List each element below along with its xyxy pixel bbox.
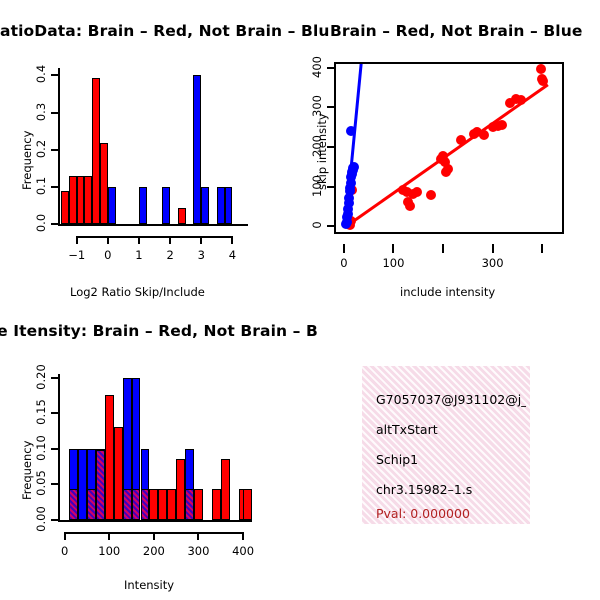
y-tick-label: 0.2	[34, 132, 48, 166]
histogram-bar	[221, 459, 230, 520]
histogram-bar	[193, 75, 201, 224]
scatter-point	[349, 162, 359, 172]
x-tick	[242, 532, 244, 540]
y-tick	[327, 186, 335, 188]
scatter-data-layer	[336, 64, 562, 232]
histogram-bar	[158, 489, 167, 520]
x-tick	[153, 532, 155, 540]
histogram-bar	[167, 489, 176, 520]
y-tick-label: 300	[310, 89, 324, 123]
scatter-point	[456, 135, 466, 145]
x-tick-label: 100	[89, 544, 129, 558]
x-tick	[138, 236, 140, 244]
x-tick	[541, 244, 543, 253]
y-tick-label: 400	[310, 50, 324, 84]
info-line-event-id: G7057037@J931102@j_	[376, 392, 526, 407]
scatter-xlabel: include intensity	[400, 285, 495, 299]
histogram-bar-overlap	[141, 489, 150, 520]
histogram-bar	[212, 489, 221, 520]
y-axis-line	[58, 68, 60, 224]
scatter-point	[479, 130, 489, 140]
y-tick-label: 0.3	[34, 95, 48, 129]
histogram-bar-overlap	[123, 489, 132, 520]
y-tick	[327, 146, 335, 148]
x-tick-label: 100	[373, 256, 413, 270]
x-tick	[64, 532, 66, 540]
histogram-bar	[78, 449, 87, 520]
x-tick	[392, 244, 394, 253]
y-tick-label: 0.00	[34, 502, 48, 536]
histogram-bar-overlap	[69, 489, 78, 520]
histogram-bar	[92, 78, 100, 224]
scatter-point	[412, 187, 422, 197]
y-tick-label: 0.20	[34, 360, 48, 394]
ratio-histogram-xlabel: Log2 Ratio Skip/Include	[70, 285, 205, 299]
x-tick	[231, 236, 233, 244]
histogram-bar-overlap	[87, 489, 96, 520]
scatter-point	[346, 126, 356, 136]
info-line-event-type: altTxStart	[376, 422, 526, 437]
x-tick-label: 4	[212, 248, 252, 262]
scatter-point	[443, 164, 453, 174]
y-axis-line	[58, 374, 60, 520]
histogram-bar	[243, 489, 252, 520]
histogram-bar	[77, 176, 85, 224]
histogram-bar	[100, 143, 108, 224]
y-tick	[327, 225, 335, 227]
y-tick	[327, 67, 335, 69]
y-tick-label: 0.05	[34, 466, 48, 500]
gene-info-box: G7057037@J931102@j_ altTxStart Schip1 ch…	[362, 366, 530, 524]
histogram-bar	[225, 187, 233, 224]
histogram-bar	[201, 187, 209, 224]
histogram-bar	[105, 395, 114, 520]
x-axis-line	[58, 224, 248, 226]
x-tick	[200, 236, 202, 244]
x-tick	[343, 244, 345, 253]
histogram-bar	[61, 191, 69, 224]
intensity-histogram-ylabel: Frequency	[20, 441, 34, 500]
histogram-bar	[69, 176, 77, 224]
x-tick	[492, 244, 494, 253]
histogram-bar	[162, 187, 170, 224]
x-tick-label: 200	[134, 544, 174, 558]
histogram-bar-overlap	[96, 450, 105, 520]
ratio-histogram-ylabel: Frequency	[20, 131, 34, 190]
intensity-histogram-xlabel: Intensity	[124, 578, 174, 592]
x-tick-label: 0	[45, 544, 85, 558]
histogram-bar	[84, 176, 92, 224]
ratio-histogram-title: RatioData: Brain – Red, Not Brain – Blu	[0, 22, 330, 40]
x-tick	[442, 244, 444, 253]
x-tick	[169, 236, 171, 244]
y-tick-label: 0.15	[34, 395, 48, 429]
info-line-pval: Pval: 0.000000	[376, 506, 526, 521]
intensity-histogram-title: ne Itensity: Brain – Red, Not Brain – B	[0, 322, 318, 340]
x-axis-line	[58, 520, 252, 522]
x-tick-label: 0	[324, 256, 364, 270]
histogram-bar	[217, 187, 225, 224]
x-tick	[76, 236, 78, 244]
scatter-title: Brain – Red, Not Brain – Blue	[330, 22, 582, 40]
scatter-point	[536, 64, 546, 74]
histogram-bar-overlap	[185, 489, 194, 520]
y-tick-label: 200	[310, 129, 324, 163]
histogram-bar	[139, 187, 147, 224]
x-tick-label: 300	[473, 256, 513, 270]
figure-canvas: RatioData: Brain – Red, Not Brain – Blu …	[0, 0, 600, 600]
scatter-point	[426, 190, 436, 200]
plot-frame-b	[334, 232, 564, 234]
y-tick-label: 0	[310, 208, 324, 242]
y-tick-label: 100	[310, 169, 324, 203]
histogram-bar	[108, 187, 116, 224]
plot-frame-r	[562, 62, 564, 232]
x-tick	[197, 532, 199, 540]
y-tick-label: 0.0	[34, 206, 48, 240]
histogram-bar	[149, 489, 158, 520]
y-tick-label: 0.10	[34, 431, 48, 465]
y-tick	[327, 106, 335, 108]
histogram-bar	[176, 459, 185, 520]
histogram-bar	[194, 489, 203, 520]
x-tick-label: 300	[178, 544, 218, 558]
histogram-bar-overlap	[132, 489, 141, 520]
histogram-bar	[114, 427, 123, 520]
histogram-bar	[178, 208, 186, 224]
scatter-point	[538, 76, 548, 86]
scatter-point	[516, 95, 526, 105]
x-tick-label: 400	[223, 544, 263, 558]
info-line-coordinate: chr3.15982–1.s	[376, 482, 526, 497]
info-line-gene-symbol: Schip1	[376, 452, 526, 467]
y-tick-label: 0.1	[34, 169, 48, 203]
scatter-point	[497, 120, 507, 130]
x-tick-axis	[77, 236, 233, 238]
y-tick-label: 0.4	[34, 57, 48, 91]
x-tick	[108, 532, 110, 540]
x-tick	[107, 236, 109, 244]
scatter-point	[405, 201, 415, 211]
